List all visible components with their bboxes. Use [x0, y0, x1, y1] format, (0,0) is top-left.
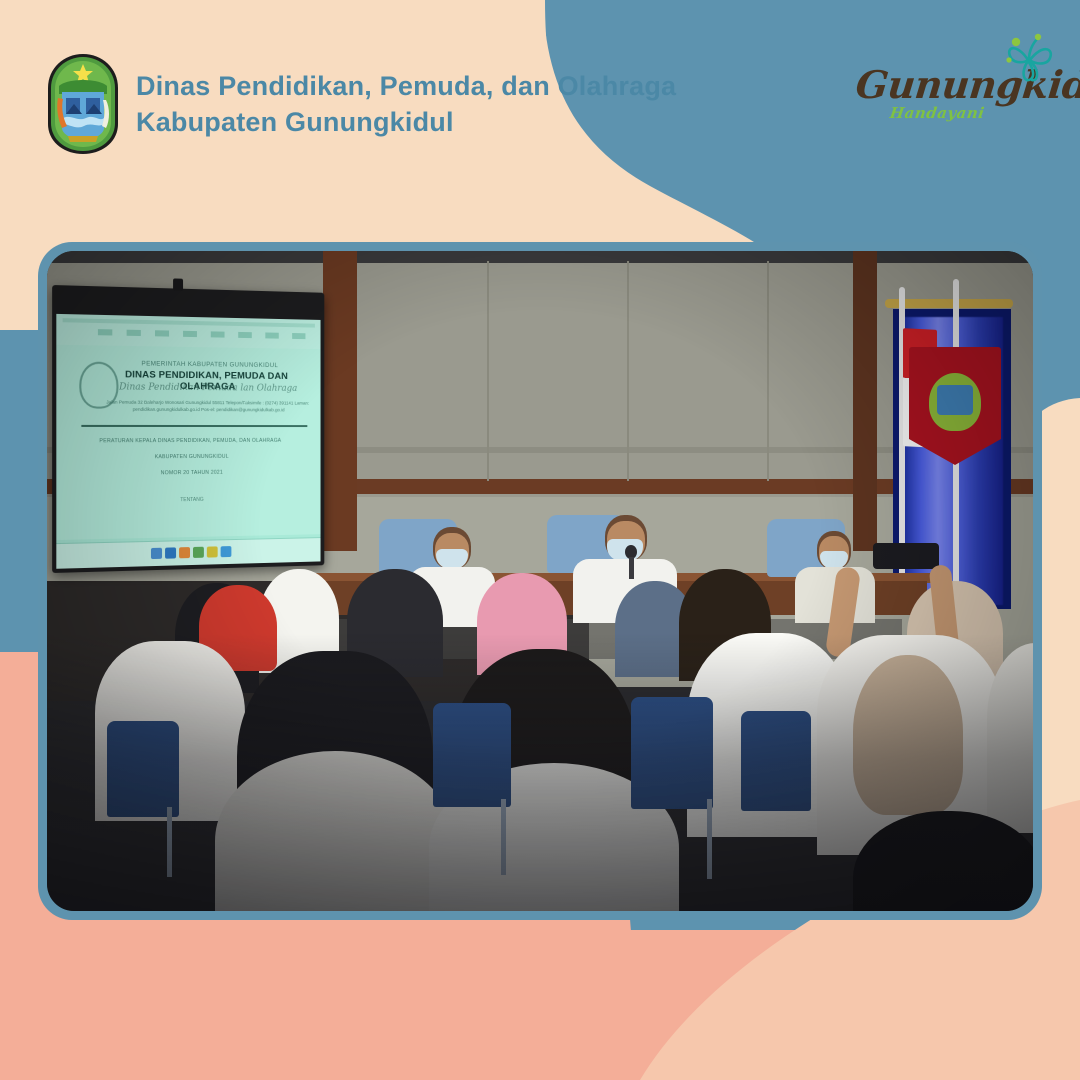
poster-canvas: Dinas Pendidikan, Pemuda, dan Olahraga K…	[0, 0, 1080, 1080]
title-line-2: Kabupaten Gunungkidul	[136, 104, 776, 140]
meeting-photo: PEMERINTAH KABUPATEN GUNUNGKIDUL DINAS P…	[47, 251, 1033, 911]
poster-header: Dinas Pendidikan, Pemuda, dan Olahraga K…	[0, 0, 1080, 210]
page-title: Dinas Pendidikan, Pemuda, dan Olahraga K…	[136, 68, 776, 141]
brand-tagline: Handayani	[889, 104, 986, 122]
butterfly-flourish-icon	[998, 30, 1060, 88]
gunungkidul-brand-logo: Gunungkidul Handayani	[846, 42, 1062, 134]
photo-card-frame: PEMERINTAH KABUPATEN GUNUNGKIDUL DINAS P…	[38, 242, 1042, 920]
gunungkidul-regency-crest-icon	[44, 52, 122, 156]
poster-footer: @dikpora_gk pendidikan.gunungkidulkab.go…	[0, 920, 1080, 1080]
title-line-1: Dinas Pendidikan, Pemuda, dan Olahraga	[136, 71, 676, 101]
photo-bottom-shadow	[47, 634, 1033, 911]
room-scene: PEMERINTAH KABUPATEN GUNUNGKIDUL DINAS P…	[47, 251, 1033, 911]
